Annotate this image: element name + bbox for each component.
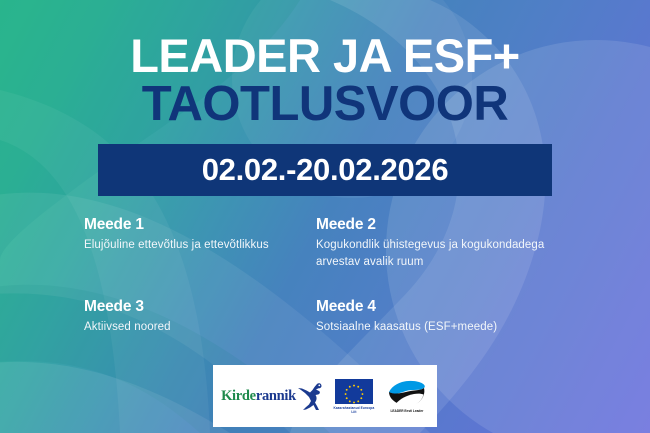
measure-3-title: Meede 3 — [84, 298, 316, 316]
headline-line-1: LEADER JA ESF+ — [0, 34, 650, 79]
measure-item-1: Meede 1 Elujõuline ettevõtlus ja ettevõt… — [84, 216, 316, 270]
measures-grid: Meede 1 Elujõuline ettevõtlus ja ettevõt… — [84, 216, 584, 336]
poster-canvas: LEADER JA ESF+ TAOTLUSVOOR 02.02.-20.02.… — [0, 0, 650, 433]
measure-item-4: Meede 4 Sotsiaalne kaasatus (ESF+meede) — [316, 298, 584, 336]
leader-logo: LEADER Eesti Leader — [385, 380, 429, 413]
logo-bar: Kirderannik — [213, 365, 437, 427]
measure-1-title: Meede 1 — [84, 216, 316, 234]
measure-4-description: Sotsiaalne kaasatus (ESF+meede) — [316, 319, 584, 336]
measure-3-description: Aktiivsed noored — [84, 319, 316, 336]
date-banner: 02.02.-20.02.2026 — [98, 144, 552, 196]
kirderannik-name-part2: rannik — [256, 388, 296, 404]
eu-logo-caption: Kaasrahastanud Euroopa Liit — [332, 406, 376, 414]
headline: LEADER JA ESF+ TAOTLUSVOOR — [0, 34, 650, 127]
estonia-leader-icon — [386, 380, 428, 408]
leader-logo-caption: LEADER Eesti Leader — [385, 409, 429, 413]
eu-logo: Kaasrahastanud Euroopa Liit — [332, 379, 376, 414]
crane-bird-icon — [297, 381, 323, 411]
kirderannik-wordmark: Kirderannik — [221, 388, 296, 405]
measure-item-3: Meede 3 Aktiivsed noored — [84, 298, 316, 336]
measure-1-description: Elujõuline ettevõtlus ja ettevõtlikkus — [84, 237, 316, 254]
measure-2-title: Meede 2 — [316, 216, 584, 234]
measure-2-description: Kogukondlik ühistegevus ja kogukondadega… — [316, 237, 584, 270]
kirderannik-logo: Kirderannik — [221, 381, 323, 411]
measure-4-title: Meede 4 — [316, 298, 584, 316]
measure-item-2: Meede 2 Kogukondlik ühistegevus ja koguk… — [316, 216, 584, 270]
eu-flag-icon — [335, 379, 373, 404]
date-range-text: 02.02.-20.02.2026 — [202, 152, 449, 188]
headline-line-2: TAOTLUSVOOR — [0, 81, 650, 128]
kirderannik-name-part1: Kirde — [221, 388, 256, 404]
